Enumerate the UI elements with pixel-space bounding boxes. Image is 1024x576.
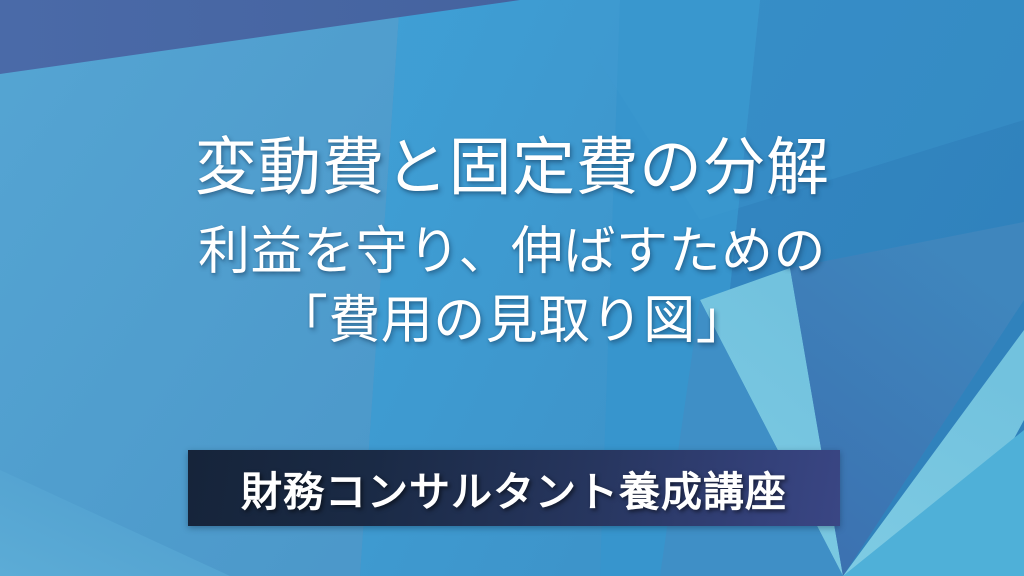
title-block: 変動費と固定費の分解 利益を守り、伸ばすための 「費用の見取り図」 — [0, 136, 1024, 356]
page-title: 変動費と固定費の分解 — [0, 136, 1024, 202]
slide-canvas: 変動費と固定費の分解 利益を守り、伸ばすための 「費用の見取り図」 財務コンサル… — [0, 0, 1024, 576]
course-banner: 財務コンサルタント養成講座 — [188, 450, 840, 526]
slide-content: 変動費と固定費の分解 利益を守り、伸ばすための 「費用の見取り図」 財務コンサル… — [0, 0, 1024, 576]
subtitle-line-1: 利益を守り、伸ばすための — [0, 218, 1024, 287]
subtitle-line-2: 「費用の見取り図」 — [0, 287, 1024, 356]
course-banner-label: 財務コンサルタント養成講座 — [241, 458, 787, 518]
